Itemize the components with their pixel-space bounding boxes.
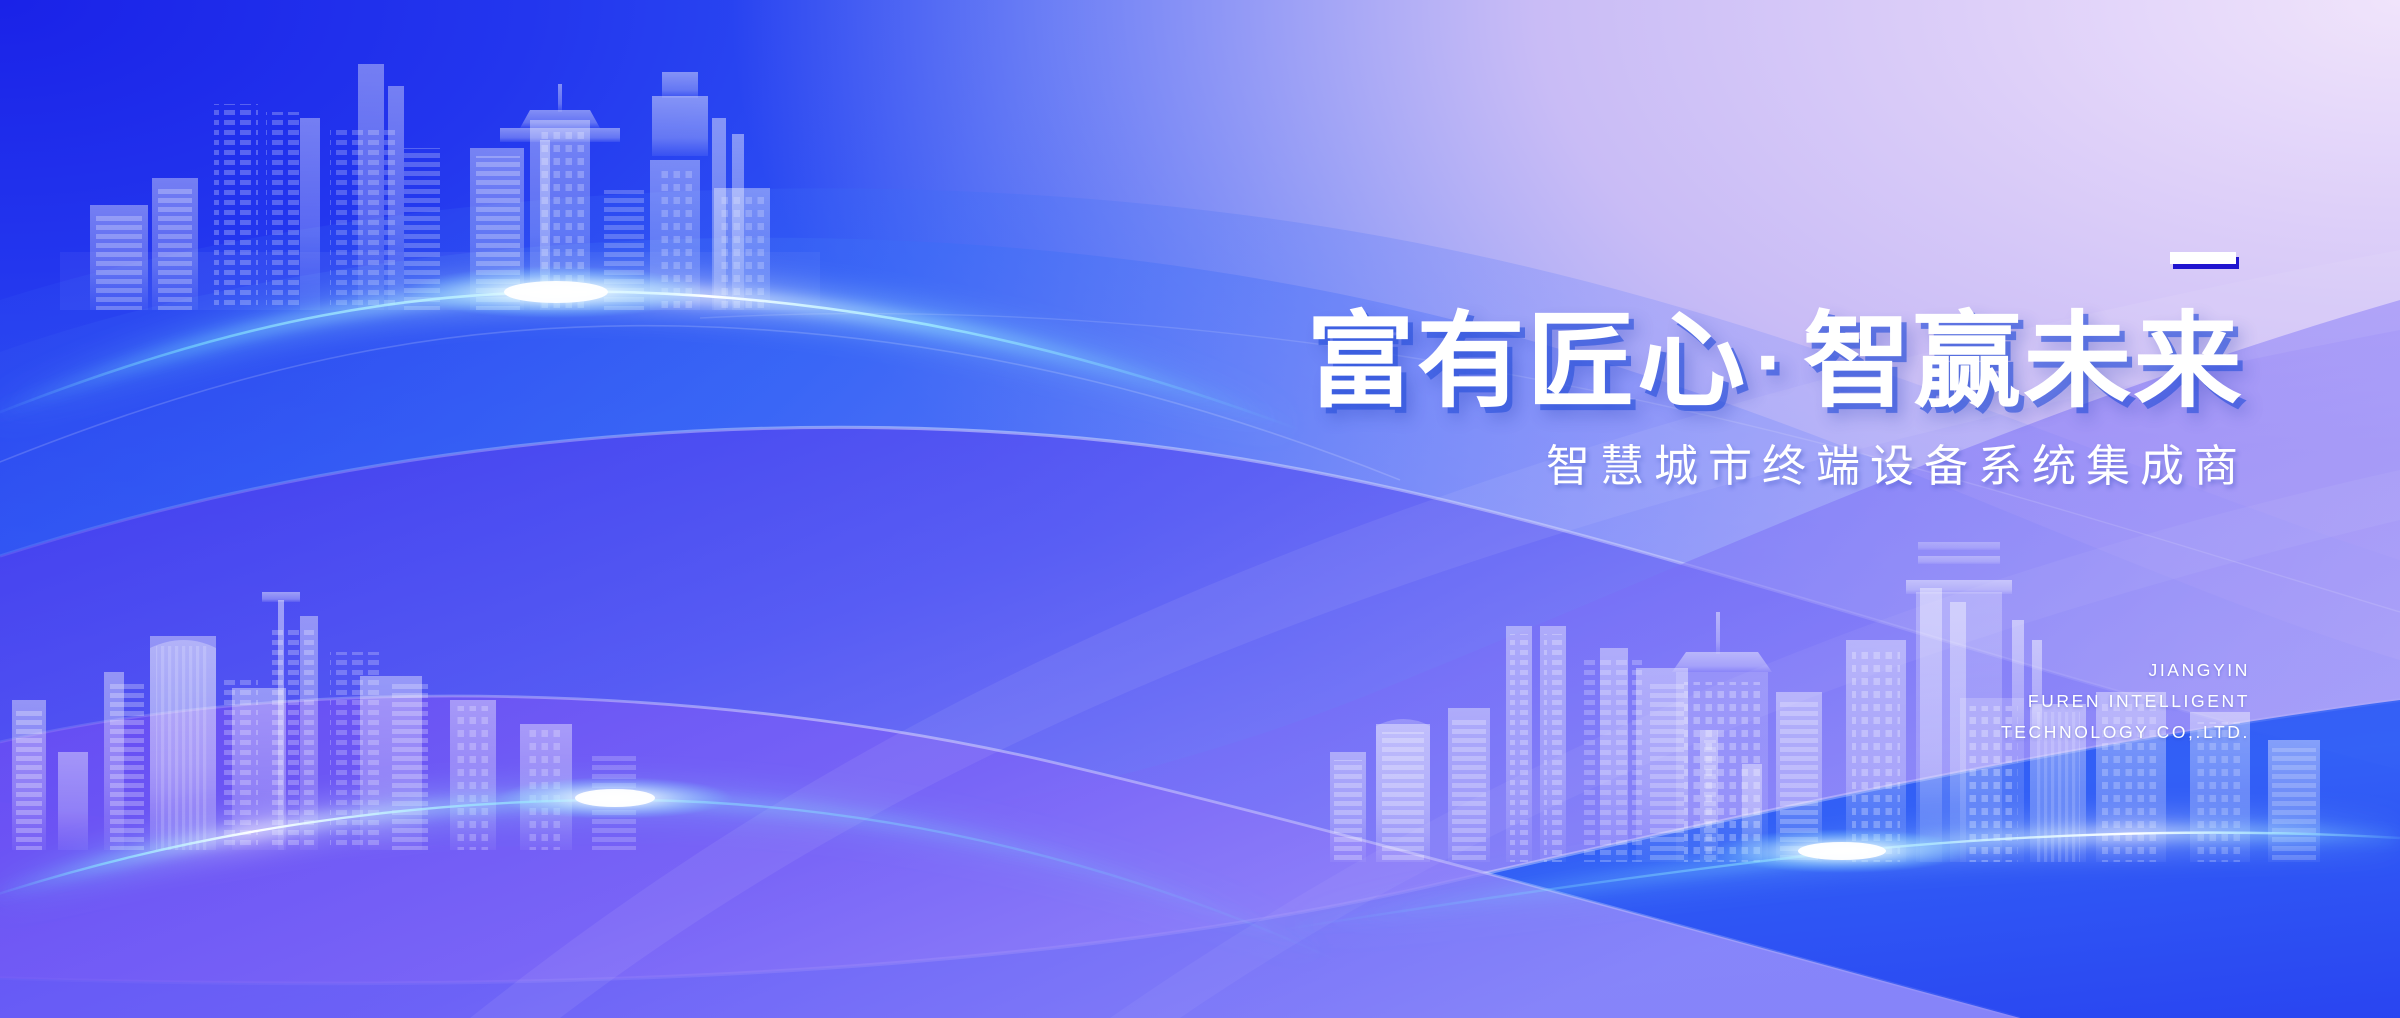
hero-banner: 富有匠心·智赢未来 智慧城市终端设备系统集成商 JIANGYIN FUREN I… — [0, 0, 2400, 1018]
company-en-line-3: TECHNOLOGY CO,.LTD. — [1520, 717, 2250, 748]
right-light-arc — [1280, 829, 2400, 930]
company-en-line-2: FUREN INTELLIGENT — [1520, 686, 2250, 717]
headline-left: 富有匠心 — [1306, 300, 1747, 422]
company-en-line-1: JIANGYIN — [1520, 655, 2250, 686]
page-subtitle: 智慧城市终端设备系统集成商 — [1020, 443, 2250, 491]
mid-light-arc — [0, 777, 1340, 962]
headline-separator-dot: · — [1747, 321, 1802, 405]
headline-block: 富有匠心·智赢未来 智慧城市终端设备系统集成商 — [1020, 252, 2250, 491]
decorative-dash-icon — [2170, 252, 2236, 264]
page-title: 富有匠心·智赢未来 — [971, 309, 2250, 413]
company-name-en: JIANGYIN FUREN INTELLIGENT TECHNOLOGY CO… — [1520, 655, 2250, 748]
headline-right: 智赢未来 — [1803, 300, 2244, 422]
light-arcs — [0, 0, 2400, 1018]
